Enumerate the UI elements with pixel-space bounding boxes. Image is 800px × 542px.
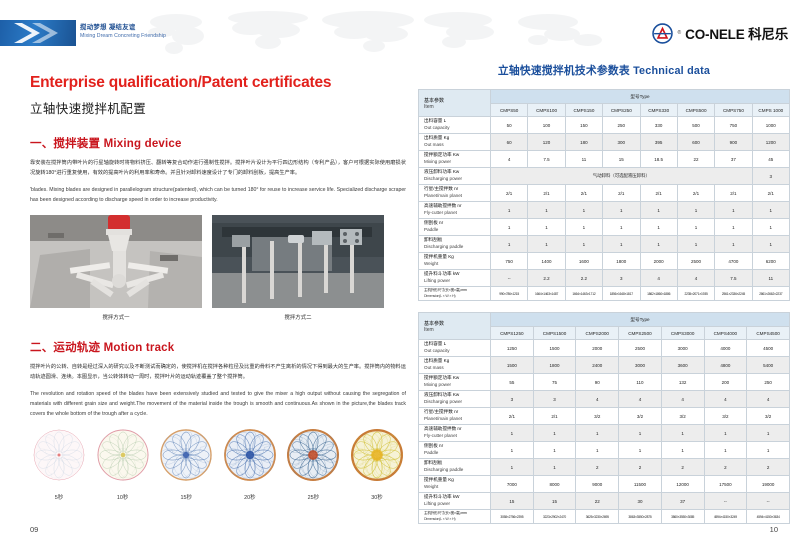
table-row: 卸料刮板Discharging paddle1122222 xyxy=(419,459,790,476)
cell: 4 xyxy=(640,270,677,287)
world-map-watermark xyxy=(118,6,638,58)
cell: 3000 xyxy=(619,357,662,374)
co-nele-emblem-icon xyxy=(652,23,673,44)
cell: 1 xyxy=(661,425,704,442)
cell: 4 xyxy=(576,391,619,408)
row-label: 行星/主搅拌数 nrPlanet/main planet xyxy=(419,408,491,425)
cell: 4 xyxy=(747,391,790,408)
cell: 4 xyxy=(677,270,714,287)
type-header-cell: 型号Type xyxy=(491,90,790,104)
cell: 1000 xyxy=(752,117,789,134)
cell: 15 xyxy=(533,493,576,510)
cell: 1 xyxy=(619,442,662,459)
cell: 3/2 xyxy=(576,408,619,425)
cell: 200 xyxy=(704,374,747,391)
cell: 4500 xyxy=(747,340,790,357)
model-header-CMPS1250: CMPS1250 xyxy=(491,327,534,340)
cell: 1 xyxy=(533,459,576,476)
type-header-cell: 型号Type xyxy=(491,313,790,327)
cell: 8000 xyxy=(533,476,576,493)
cell: 3/2 xyxy=(619,408,662,425)
cell: 4 xyxy=(619,391,662,408)
cell: -- xyxy=(704,493,747,510)
model-header-CMPS50: CMPS50 xyxy=(491,104,528,117)
table-row: 液压卸料功率 KwDischarging power3344444 xyxy=(419,391,790,408)
cell: 1664×1463×1487 xyxy=(528,287,565,301)
cell: 250 xyxy=(747,374,790,391)
motion-track-row: 5秒10秒15秒20秒25秒30秒 xyxy=(30,429,406,501)
cell: 132 xyxy=(661,374,704,391)
technical-data-title: 立轴快速搅拌机技术参数表 Technical data xyxy=(418,62,790,78)
row-label: 搅拌额定功率 KwMixing power xyxy=(419,374,491,391)
cell: 1856×1648×1817 xyxy=(603,287,640,301)
cell: 60 xyxy=(491,134,528,151)
cell: 2 xyxy=(747,459,790,476)
right-logo-name: CO-NELE 科尼乐 xyxy=(685,23,788,43)
cell: 17500 xyxy=(704,476,747,493)
row-label: 出料容量 LOut capacity xyxy=(419,117,491,134)
photo-caption-1: 搅拌方式一 xyxy=(30,313,202,321)
cell: 1 xyxy=(640,236,677,253)
cell: 395 xyxy=(640,134,677,151)
cell: 1 xyxy=(528,202,565,219)
motion-track-label-2: 10秒 xyxy=(94,493,152,501)
model-header-CMPS1000: CMPS 1000 xyxy=(752,104,789,117)
cell: 4 xyxy=(491,151,528,168)
cell: 1600 xyxy=(565,253,602,270)
cell: 900 xyxy=(715,134,752,151)
cell: 1 xyxy=(491,202,528,219)
cell: 750 xyxy=(715,117,752,134)
cell: 3000 xyxy=(661,340,704,357)
cell: 19000 xyxy=(747,476,790,493)
cell: 1 xyxy=(603,219,640,236)
row-label: 液压卸料功率 KwDischarging power xyxy=(419,168,491,185)
item-header-cell: 基本参数Item xyxy=(419,90,491,117)
cell: 9000 xyxy=(576,476,619,493)
model-header-CMPS150: CMPS150 xyxy=(565,104,602,117)
cell: 3 xyxy=(752,168,789,185)
cell: 6200 xyxy=(752,253,789,270)
cell: 7.5 xyxy=(528,151,565,168)
table-row: 出料质量 KgOut mass601201803003956009001200 xyxy=(419,134,790,151)
cell: 1 xyxy=(528,236,565,253)
table-row: 搅拌额定功率 KwMixing power557590110132200250 xyxy=(419,374,790,391)
cell: 7.5 xyxy=(715,270,752,287)
cell: 1 xyxy=(565,202,602,219)
model-header-CMPS3000: CMPS3000 xyxy=(661,327,704,340)
cell: 1 xyxy=(491,459,534,476)
cell: 55 xyxy=(491,374,534,391)
cell: 1 xyxy=(565,219,602,236)
left-logo-slogan-en: Mixing Dream Concreting Friendship xyxy=(80,33,166,39)
cell: 1 xyxy=(603,202,640,219)
cell: 2500 xyxy=(677,253,714,270)
table-row: 出料容量 LOut capacity5010015025033050075010… xyxy=(419,117,790,134)
cell: 4000 xyxy=(704,340,747,357)
cell: 2/1 xyxy=(528,185,565,202)
cell: 2 xyxy=(576,459,619,476)
model-header-CMPS2500: CMPS2500 xyxy=(619,327,662,340)
cell: 3 xyxy=(491,391,534,408)
cell: 500 xyxy=(677,117,714,134)
row-label: 侧刮板 nrPaddle xyxy=(419,442,491,459)
cell: 4700 xyxy=(715,253,752,270)
cell: 2561×2336×2245 xyxy=(715,287,752,301)
model-header-CMPS4000: CMPS4000 xyxy=(704,327,747,340)
row-label: 卸料刮板Discharging paddle xyxy=(419,236,491,253)
motion-track-diagram-4 xyxy=(224,429,276,481)
registered-mark: ® xyxy=(677,30,681,36)
row-label: 主机外形尺寸(长×宽×高) mmDimension(L × W × H) xyxy=(419,510,491,524)
motion-track-diagram-2 xyxy=(97,429,149,481)
left-logo-slogan-cn: 搅动梦想 凝结友谊 xyxy=(80,22,166,31)
cell: 4 xyxy=(661,391,704,408)
left-logo: 搅动梦想 凝结友谊 Mixing Dream Concreting Friend… xyxy=(0,20,126,46)
model-header-CMPS100: CMPS100 xyxy=(528,104,565,117)
motion-track-1: 5秒 xyxy=(30,429,88,501)
cell: 1 xyxy=(528,219,565,236)
cell: 3860×3550×3085 xyxy=(661,510,704,524)
cell: 2500 xyxy=(619,340,662,357)
cell: 250 xyxy=(603,117,640,134)
table-row: 搅拌机重量 KgWeight75014001600180020002500470… xyxy=(419,253,790,270)
motion-track-6: 30秒 xyxy=(348,429,406,501)
table-row: 高速辅助搅拌数 nrFly-cutter planet1111111 xyxy=(419,425,790,442)
table-row: 液压卸料功率 KwDischarging power气动卸料（可选配液压卸料）3 xyxy=(419,168,790,185)
cell: 1 xyxy=(677,219,714,236)
table-row: 主机外形尺寸(长×宽×高) mmDimension(L × W × H)3058… xyxy=(419,510,790,524)
mixing-blade-photo xyxy=(30,215,202,308)
cell: 1 xyxy=(677,236,714,253)
cell: 2.2 xyxy=(528,270,565,287)
chevron-right-icon xyxy=(0,20,76,46)
section-2-paragraph-en: The revolution and rotation speed of the… xyxy=(30,389,406,419)
table-row: 行星/主搅拌数 nrPlanet/main planet2/12/13/23/2… xyxy=(419,408,790,425)
motion-track-diagram-1 xyxy=(33,429,85,481)
cell: 1862×1860×1886 xyxy=(640,287,677,301)
table-row: 卸料刮板Discharging paddle11111111 xyxy=(419,236,790,253)
table-row: 提升料斗功率 kWLifting power--2.22.23447.511 xyxy=(419,270,790,287)
row-label: 搅拌机重量 KgWeight xyxy=(419,253,491,270)
table-row: 侧刮板 nrPaddle1111111 xyxy=(419,442,790,459)
cell: 3/2 xyxy=(661,408,704,425)
model-header-CMPS750: CMPS750 xyxy=(715,104,752,117)
cell: 100 xyxy=(528,117,565,134)
row-label: 提升料斗功率 kWLifting power xyxy=(419,493,491,510)
motion-track-5: 25秒 xyxy=(284,429,342,501)
model-header-CMPS4500: CMPS4500 xyxy=(747,327,790,340)
cell: 2 xyxy=(704,459,747,476)
motion-track-label-5: 25秒 xyxy=(284,493,342,501)
table-row: 高速辅助搅拌数 nrFly-cutter planet11111111 xyxy=(419,202,790,219)
cell: 1 xyxy=(533,425,576,442)
cell: 750 xyxy=(491,253,528,270)
cell: 120 xyxy=(528,134,565,151)
cell: 1 xyxy=(640,202,677,219)
cell: 12000 xyxy=(661,476,704,493)
cell: 37 xyxy=(715,151,752,168)
cell: 1 xyxy=(491,219,528,236)
page-title-cn: 立轴快速搅拌机配置 xyxy=(30,98,406,117)
cell: 3863×3550×2875 xyxy=(619,510,662,524)
cell: 1800 xyxy=(533,357,576,374)
section-2-heading: 二、运动轨迹 Motion track xyxy=(30,339,406,355)
table-row: 主机外形尺寸(长×宽×高) mmDimension(L × W × H)990×… xyxy=(419,287,790,301)
cell: 110 xyxy=(619,374,662,391)
cell: 2 xyxy=(619,459,662,476)
cell: 4594×4150×3249 xyxy=(704,510,747,524)
cell: 1 xyxy=(603,236,640,253)
cell: 2/1 xyxy=(752,185,789,202)
right-logo-name-cn: 科尼乐 xyxy=(748,27,788,42)
cell: 22 xyxy=(677,151,714,168)
technical-data-table-2: 基本参数Item型号TypeCMPS1250CMPS1500CMPS2000CM… xyxy=(418,312,790,524)
row-label: 液压卸料功率 KwDischarging power xyxy=(419,391,491,408)
cell: 3058×2756×2395 xyxy=(491,510,534,524)
mixing-arm-photo xyxy=(212,215,384,308)
row-label: 提升料斗功率 kWLifting power xyxy=(419,270,491,287)
cell: 1 xyxy=(752,219,789,236)
cell: 7000 xyxy=(491,476,534,493)
cell: 2400 xyxy=(576,357,619,374)
cell: 1 xyxy=(704,425,747,442)
cell: 1 xyxy=(491,442,534,459)
cell: 1200 xyxy=(752,134,789,151)
photo-captions: 搅拌方式一 搅拌方式二 xyxy=(30,313,406,321)
motion-track-label-6: 30秒 xyxy=(348,493,406,501)
cell: 2/1 xyxy=(491,408,534,425)
table-row: 搅拌机重量 KgWeight70008000900011500120001750… xyxy=(419,476,790,493)
cell: 1400 xyxy=(528,253,565,270)
row-label: 出料质量 KgOut mass xyxy=(419,134,491,151)
row-label: 出料质量 KgOut mass xyxy=(419,357,491,374)
cell: 4 xyxy=(704,391,747,408)
section-1-heading: 一、搅拌装置 Mixing device xyxy=(30,135,406,151)
cell: 1 xyxy=(752,236,789,253)
cell: 3625×3230×2695 xyxy=(576,510,619,524)
motion-track-diagram-3 xyxy=(160,429,212,481)
cell: 2/1 xyxy=(640,185,677,202)
cell: 990×786×1215 xyxy=(491,287,528,301)
table-row: 侧刮板 nrPaddle11111111 xyxy=(419,219,790,236)
cell: 1 xyxy=(533,442,576,459)
cell: 11500 xyxy=(619,476,662,493)
left-logo-arrow-badge xyxy=(0,20,76,46)
row-label: 行星/主搅拌数 nrPlanet/main planet xyxy=(419,185,491,202)
cell: 2235×2071×1935 xyxy=(677,287,714,301)
cell: 1 xyxy=(677,202,714,219)
cell: 2/1 xyxy=(533,408,576,425)
cell: 1664×1463×1712 xyxy=(565,287,602,301)
cell: 2.2 xyxy=(565,270,602,287)
cell: 1 xyxy=(747,442,790,459)
cell: 2/1 xyxy=(677,185,714,202)
page-title-en: Enterprise qualification/Patent certific… xyxy=(30,74,406,91)
row-label: 高速辅助搅拌数 nrFly-cutter planet xyxy=(419,425,491,442)
cell: 4800 xyxy=(704,357,747,374)
cell: 1 xyxy=(491,425,534,442)
table-row: 行星/主搅拌数 nrPlanet/main planet2/12/12/12/1… xyxy=(419,185,790,202)
cell: 2000 xyxy=(640,253,677,270)
cell: 1 xyxy=(704,442,747,459)
photo-row xyxy=(30,215,406,308)
page-number-right: 10 xyxy=(770,525,778,534)
cell: 1 xyxy=(715,202,752,219)
cell: 1 xyxy=(491,236,528,253)
model-header-CMPS250: CMPS250 xyxy=(603,104,640,117)
cell: 3 xyxy=(533,391,576,408)
row-label: 主机外形尺寸(长×宽×高) mmDimension(L × W × H) xyxy=(419,287,491,301)
motion-track-diagram-5 xyxy=(287,429,339,481)
cell: 1500 xyxy=(491,357,534,374)
cell: 4594×4150×3634 xyxy=(747,510,790,524)
cell: -- xyxy=(491,270,528,287)
cell: 1 xyxy=(565,236,602,253)
cell: 1 xyxy=(576,442,619,459)
cell: 3600 xyxy=(661,357,704,374)
photo-caption-2: 搅拌方式二 xyxy=(212,313,384,321)
motion-track-3: 15秒 xyxy=(157,429,215,501)
cell: 1 xyxy=(619,425,662,442)
cell: 2000 xyxy=(576,340,619,357)
section-1-paragraph-en: 'blades. Mixing blades are designed in p… xyxy=(30,185,406,205)
cell: 15 xyxy=(603,151,640,168)
cell: 1250 xyxy=(491,340,534,357)
cell: 3/2 xyxy=(747,408,790,425)
cell: 3/2 xyxy=(704,408,747,425)
row-label: 搅拌机重量 KgWeight xyxy=(419,476,491,493)
cell: 11 xyxy=(565,151,602,168)
row-label: 侧刮板 nrPaddle xyxy=(419,219,491,236)
cell: 3223×2902×2470 xyxy=(533,510,576,524)
cell: 45 xyxy=(752,151,789,168)
cell: 600 xyxy=(677,134,714,151)
table-row: 出料质量 KgOut mass1500180024003000360048005… xyxy=(419,357,790,374)
row-label: 出料容量 LOut capacity xyxy=(419,340,491,357)
cell: 1 xyxy=(747,425,790,442)
motion-track-label-3: 15秒 xyxy=(157,493,215,501)
cell: 15 xyxy=(491,493,534,510)
motion-track-4: 20秒 xyxy=(221,429,279,501)
item-header-cell: 基本参数Item xyxy=(419,313,491,340)
right-page-content: 立轴快速搅拌机技术参数表 Technical data 基本参数Item型号Ty… xyxy=(418,62,790,524)
cell: 90 xyxy=(576,374,619,391)
cell: 2/1 xyxy=(491,185,528,202)
cell: 1500 xyxy=(533,340,576,357)
cell: 1800 xyxy=(603,253,640,270)
row-label: 卸料刮板Discharging paddle xyxy=(419,459,491,476)
cell: 1 xyxy=(661,442,704,459)
right-logo-name-en: CO-NELE xyxy=(685,27,744,42)
cell: 1 xyxy=(715,236,752,253)
row-label: 高速辅助搅拌数 nrFly-cutter planet xyxy=(419,202,491,219)
cell: 75 xyxy=(533,374,576,391)
model-header-CMPS1500: CMPS1500 xyxy=(533,327,576,340)
motion-track-label-1: 5秒 xyxy=(30,493,88,501)
cell: 1 xyxy=(576,425,619,442)
motion-track-diagram-6 xyxy=(351,429,403,481)
cell: 18.5 xyxy=(640,151,677,168)
model-header-CMPS2000: CMPS2000 xyxy=(576,327,619,340)
cell: 3 xyxy=(603,270,640,287)
cell: 2/1 xyxy=(715,185,752,202)
left-page-content: Enterprise qualification/Patent certific… xyxy=(30,74,406,501)
motion-track-label-4: 20秒 xyxy=(221,493,279,501)
cell: 2861×2662×2237 xyxy=(752,287,789,301)
cell: 1 xyxy=(640,219,677,236)
table-row: 搅拌额定功率 KwMixing power47.5111518.5223745 xyxy=(419,151,790,168)
right-logo: ® CO-NELE 科尼乐 xyxy=(652,20,788,46)
technical-data-table-1: 基本参数Item型号TypeCMPS50CMPS100CMPS150CMPS25… xyxy=(418,89,790,301)
cell: 5400 xyxy=(747,357,790,374)
cell: 330 xyxy=(640,117,677,134)
cell: 180 xyxy=(565,134,602,151)
section-2-paragraph-cn: 搅拌叶片的公转、自转是经过深入的研究以及不断测试而确定的，使搅拌机在搅拌各种粒径… xyxy=(30,362,406,382)
section-1-paragraph-cn: 靠安装在搅拌筒内带叶片的行星轴旋转时将物料挤压、翻转等复合动作进行强制性搅拌。搅… xyxy=(30,158,406,178)
cell: 1 xyxy=(715,219,752,236)
cell: 2/1 xyxy=(565,185,602,202)
cell: 300 xyxy=(603,134,640,151)
cell: 37 xyxy=(661,493,704,510)
table-row: 出料容量 LOut capacity1250150020002500300040… xyxy=(419,340,790,357)
cell: -- xyxy=(747,493,790,510)
page-number-left: 09 xyxy=(30,525,38,534)
cell: 50 xyxy=(491,117,528,134)
cell: 2/1 xyxy=(603,185,640,202)
cell: 1 xyxy=(752,202,789,219)
motion-track-2: 10秒 xyxy=(94,429,152,501)
model-header-CMPS330: CMPS330 xyxy=(640,104,677,117)
table-row: 提升料斗功率 kWLifting power1515223037---- xyxy=(419,493,790,510)
model-header-CMPS500: CMPS500 xyxy=(677,104,714,117)
cell: 2 xyxy=(661,459,704,476)
cell: 150 xyxy=(565,117,602,134)
cell: 30 xyxy=(619,493,662,510)
row-label: 搅拌额定功率 KwMixing power xyxy=(419,151,491,168)
discharging-power-note: 气动卸料（可选配液压卸料） xyxy=(491,168,753,185)
cell: 22 xyxy=(576,493,619,510)
cell: 11 xyxy=(752,270,789,287)
